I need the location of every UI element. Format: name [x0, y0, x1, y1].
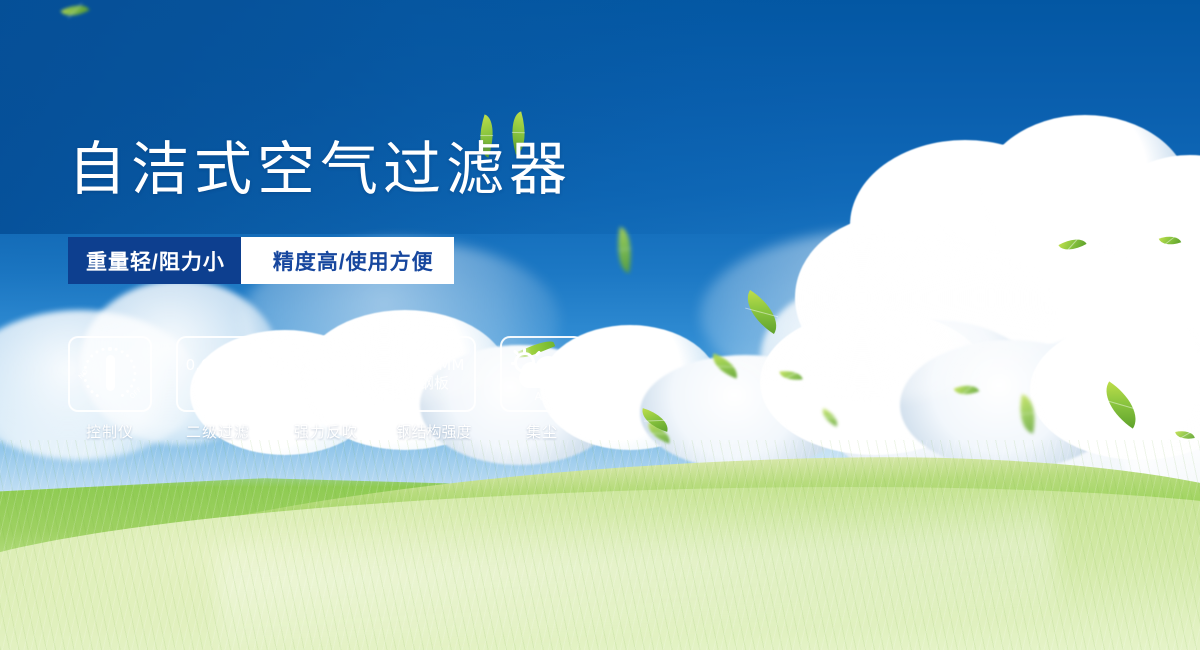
steel-value-line1: 3～8MM: [403, 356, 464, 374]
air-label: Air: [511, 390, 573, 403]
subtitle-bar: 重量轻/阻力小 精度高/使用方便: [68, 237, 454, 284]
product-hero-banner: 自洁式空气过滤器 重量轻/阻力小 精度高/使用方便: [0, 0, 1200, 650]
feature-label: 二级过滤: [186, 421, 250, 442]
page-title: 自洁式空气过滤器: [68, 140, 572, 198]
feature-item-two-stage-filter[interactable]: 0.6～0.8 MPA 二级过滤: [176, 336, 260, 442]
steel-value-line2: 钢板: [419, 374, 450, 392]
subtitle-right-segment: 精度高/使用方便: [267, 237, 454, 284]
filter-cartridge-icon: [303, 345, 349, 403]
gauge-icon: NO OFF: [77, 345, 143, 403]
feature-label: 集尘: [526, 421, 558, 442]
cloud-air-icon: Air: [511, 348, 573, 400]
subtitle-divider-slash: [241, 237, 267, 284]
gauge-needle: [106, 355, 115, 391]
feature-item-steel-strength[interactable]: 3～8MM 钢板 钢结构强度: [392, 336, 476, 442]
feature-label: 控制仪: [86, 421, 134, 442]
subtitle-left-segment: 重量轻/阻力小: [68, 237, 241, 284]
feature-icon-row: NO OFF 控制仪 0.6～0.8 MPA 二级过滤: [68, 336, 584, 442]
feature-box: 3～8MM 钢板: [392, 336, 476, 412]
feature-box: [284, 336, 368, 412]
feature-box: NO OFF: [68, 336, 152, 412]
feature-item-controller[interactable]: NO OFF 控制仪: [68, 336, 152, 442]
feature-item-dust-collection[interactable]: Air 集尘: [500, 336, 584, 442]
pressure-value-line1: 0.6～0.8: [186, 356, 251, 374]
pressure-value-line2: MPA: [202, 374, 234, 392]
feature-label: 强力反吹: [294, 421, 358, 442]
feature-item-reverse-blow[interactable]: 强力反吹: [284, 336, 368, 442]
feature-label: 钢结构强度: [396, 421, 471, 442]
feature-box: 0.6～0.8 MPA: [176, 336, 260, 412]
feature-box: Air: [500, 336, 584, 412]
